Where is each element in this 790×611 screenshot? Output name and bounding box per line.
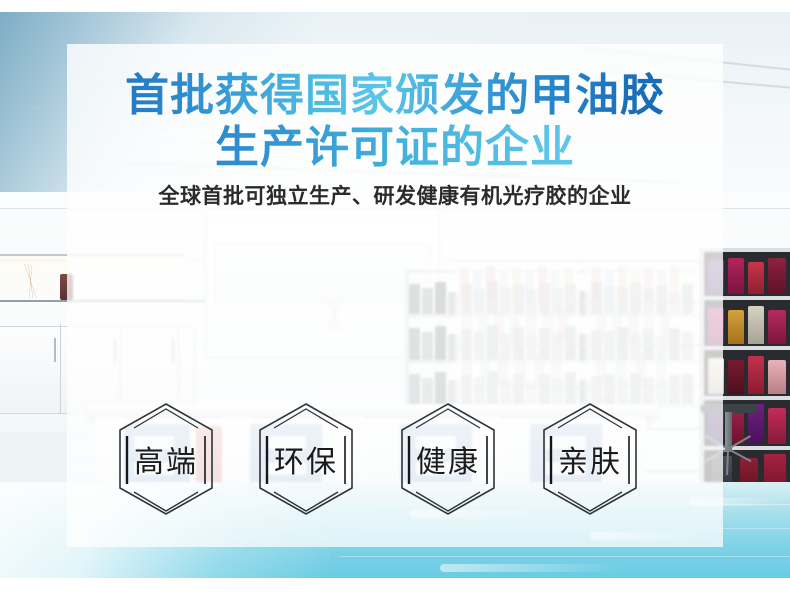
headline-line-2: 生产许可证的企业 — [67, 122, 723, 174]
badge-label: 亲肤 — [538, 400, 642, 518]
feature-badge-qinfu: 亲肤 — [538, 400, 642, 518]
subtitle-text: 全球首批可独立生产、研发健康有机光疗胶的企业 — [67, 180, 723, 210]
headline-block: 首批获得国家颁发的甲油胶 生产许可证的企业 — [67, 70, 723, 174]
feature-badge-row: 高端 环保 — [0, 400, 790, 530]
decor-twigs — [20, 264, 42, 298]
banner-root: 首批获得国家颁发的甲油胶 生产许可证的企业 全球首批可独立生产、研发健康有机光疗… — [0, 0, 790, 611]
feature-badge-huanbao: 环保 — [254, 400, 358, 518]
badge-label: 高端 — [114, 400, 218, 518]
feature-badge-jiankang: 健康 — [396, 400, 500, 518]
badge-label: 健康 — [396, 400, 500, 518]
badge-label: 环保 — [254, 400, 358, 518]
headline-line-1: 首批获得国家颁发的甲油胶 — [67, 70, 723, 122]
feature-badge-gaoduan: 高端 — [114, 400, 218, 518]
cabinet-handle — [54, 338, 56, 362]
